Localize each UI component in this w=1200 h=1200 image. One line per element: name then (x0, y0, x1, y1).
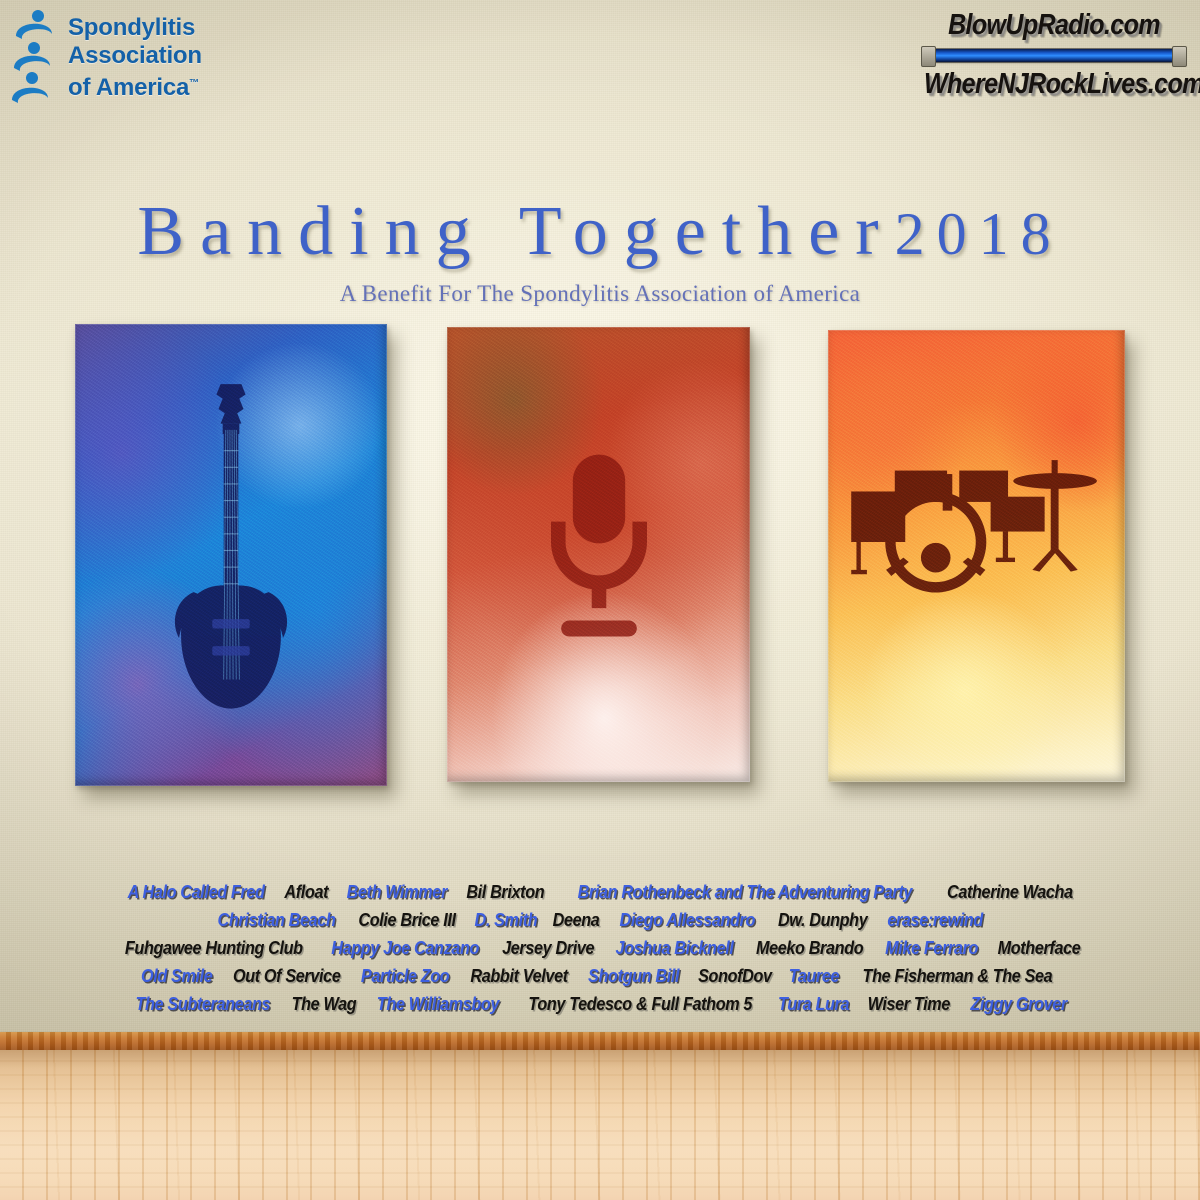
band-name[interactable]: Dw. Dunphy (778, 907, 867, 933)
band-row: A Halo Called FredAfloatBeth WimmerBil B… (0, 879, 1200, 907)
band-name[interactable]: Out Of Service (233, 963, 341, 989)
band-name[interactable]: Motherface (997, 935, 1080, 961)
saa-line-3: of America™ (68, 70, 202, 102)
band-name[interactable]: Shotgun Bill (588, 963, 679, 989)
wood-floor (0, 1050, 1200, 1200)
band-name[interactable]: Tura Lura (778, 991, 849, 1017)
guitar-canvas[interactable] (75, 324, 387, 786)
band-name[interactable]: Brian Rothenbeck and The Adventuring Par… (577, 879, 911, 905)
band-name[interactable]: The Williamsboy (376, 991, 498, 1017)
band-row: Christian BeachColie Brice IIID. SmithDe… (0, 907, 1200, 935)
band-name[interactable]: Ziggy Grover (970, 991, 1067, 1017)
blowupradio-logo[interactable]: BlowUpRadio.com WhereNJRockLives.com (924, 10, 1184, 110)
band-name[interactable]: Old Smile (141, 963, 212, 989)
electric-guitar-icon (169, 356, 294, 753)
band-name[interactable]: The Fisherman & The Sea (862, 963, 1052, 989)
band-name[interactable]: Afloat (285, 879, 329, 905)
band-name[interactable]: Jersey Drive (502, 935, 594, 961)
band-row: Old SmileOut Of ServiceParticle ZooRabbi… (0, 963, 1200, 991)
microphone-canvas[interactable] (447, 327, 750, 782)
band-name[interactable]: Meeko Brando (756, 935, 863, 961)
band-name[interactable]: Deena (553, 907, 600, 933)
band-name[interactable]: Colie Brice III (358, 907, 455, 933)
poster: Spondylitis Association of America™ Blow… (0, 0, 1200, 1200)
band-name[interactable]: Joshua Bicknell (616, 935, 734, 961)
band-row: The SubteraneansThe WagThe WilliamsboyTo… (0, 991, 1200, 1019)
saa-logo: Spondylitis Association of America™ (8, 8, 258, 112)
band-lineup: A Halo Called FredAfloatBeth WimmerBil B… (0, 879, 1200, 1019)
band-name[interactable]: Christian Beach (218, 907, 336, 933)
band-name[interactable]: Wiser Time (868, 991, 950, 1017)
title-year: 2018 (895, 201, 1063, 267)
blowupradio-line-2: WhereNJRockLives.com (924, 67, 1184, 101)
saa-wordmark: Spondylitis Association of America™ (68, 8, 202, 102)
drums-canvas[interactable] (828, 330, 1125, 782)
band-name[interactable]: SonofDov (698, 963, 772, 989)
drums-canvas-painting (828, 330, 1125, 782)
band-row: Fuhgawee Hunting ClubHappy Joe CanzanoJe… (0, 935, 1200, 963)
blowupradio-line-1: BlowUpRadio.com (924, 8, 1184, 42)
saa-line-2: Association (68, 42, 202, 70)
band-name[interactable]: Fuhgawee Hunting Club (125, 935, 303, 961)
band-name[interactable]: Happy Joe Canzano (331, 935, 479, 961)
band-name[interactable]: Beth Wimmer (346, 879, 446, 905)
band-name[interactable]: Catherine Wacha (947, 879, 1073, 905)
band-name[interactable]: Rabbit Velvet (470, 963, 567, 989)
guitar-canvas-painting (75, 324, 387, 786)
band-name[interactable]: erase:rewind (888, 907, 984, 933)
page-subtitle: A Benefit For The Spondylitis Associatio… (0, 281, 1200, 307)
band-name[interactable]: A Halo Called Fred (128, 879, 265, 905)
saa-line-3-text: of America (68, 74, 189, 101)
title-main: Banding Together (137, 193, 894, 270)
microphone-canvas-painting (447, 327, 750, 782)
baseboard-trim (0, 1032, 1200, 1050)
band-name[interactable]: Bil Brixton (466, 879, 544, 905)
band-name[interactable]: Tony Tedesco & Full Fathom 5 (528, 991, 752, 1017)
band-name[interactable]: Particle Zoo (361, 963, 449, 989)
band-name[interactable]: Tauree (789, 963, 839, 989)
trademark-symbol: ™ (189, 78, 199, 89)
drum-kit-icon (846, 429, 1107, 655)
band-name[interactable]: Diego Allessandro (620, 907, 756, 933)
band-name[interactable]: Mike Ferraro (885, 935, 978, 961)
logo-divider-bar (926, 49, 1182, 62)
three-figures-icon (8, 8, 60, 104)
band-name[interactable]: The Wag (291, 991, 356, 1017)
band-name[interactable]: The Subteraneans (136, 991, 271, 1017)
page-title: Banding Together2018 (0, 192, 1200, 272)
microphone-icon (526, 418, 671, 682)
band-name[interactable]: D. Smith (474, 907, 537, 933)
saa-line-1: Spondylitis (68, 14, 202, 42)
